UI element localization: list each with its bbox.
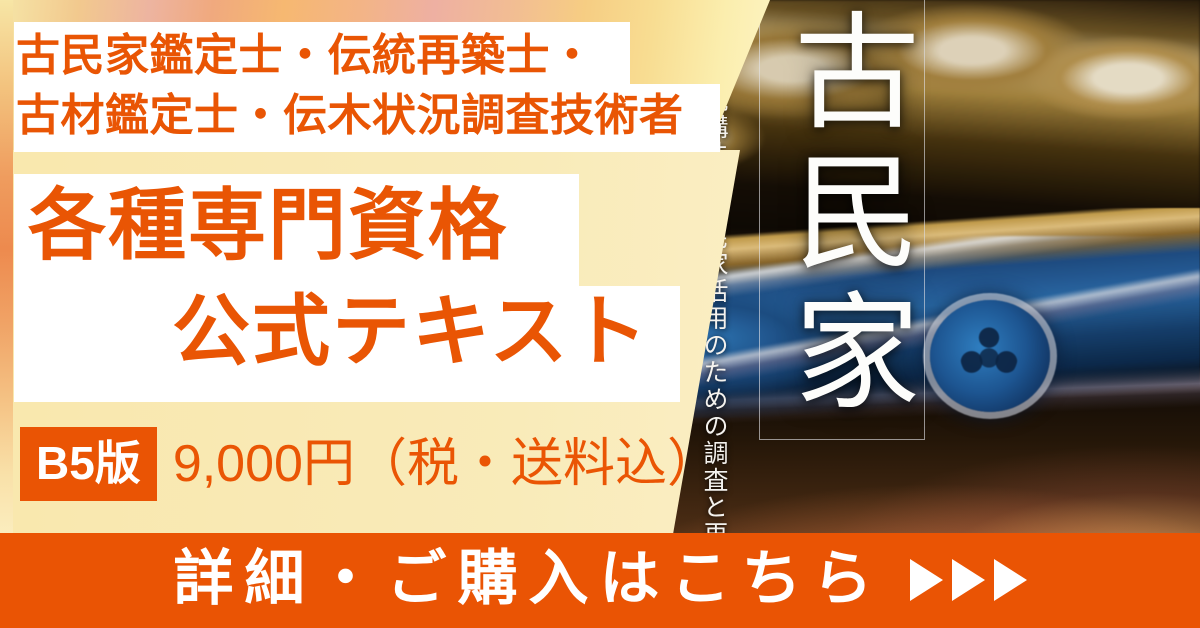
family-crest-medallion (930, 300, 1050, 412)
chevron-right-icon (994, 559, 1027, 601)
cta-arrows (910, 559, 1027, 601)
cta-label: 詳細・ご購入はこちら (174, 549, 884, 609)
headline-line-1: 各種専門資格 (14, 186, 684, 264)
qualifications-text: 古民家鑑定士・伝統再築士・ 古材鑑定士・伝木状況調査技術者 (16, 26, 722, 146)
book-title: 古民家 (768, 6, 918, 426)
cta-button-bar[interactable]: 詳細・ご購入はこちら (0, 533, 1200, 628)
price-amount: 9,000円（税・送料込） (173, 438, 719, 490)
headline-line-2: 公式テキスト (14, 292, 684, 370)
price-row: B5版 9,000円（税・送料込） (20, 427, 719, 501)
chevron-right-icon (910, 559, 943, 601)
chevron-right-icon (952, 559, 985, 601)
left-edge-gradient-strip (0, 0, 13, 540)
promo-banner: 伝統構法 古民家活用のための調査と再生の 古民家 古民家鑑定士・伝統再築士・ 古… (0, 0, 1200, 628)
format-badge: B5版 (20, 427, 157, 501)
qualifications-line-1: 古民家鑑定士・伝統再築士・ (16, 26, 722, 86)
page-title: 各種専門資格 公式テキスト (14, 186, 684, 370)
qualifications-line-2: 古材鑑定士・伝木状況調査技術者 (16, 86, 722, 146)
